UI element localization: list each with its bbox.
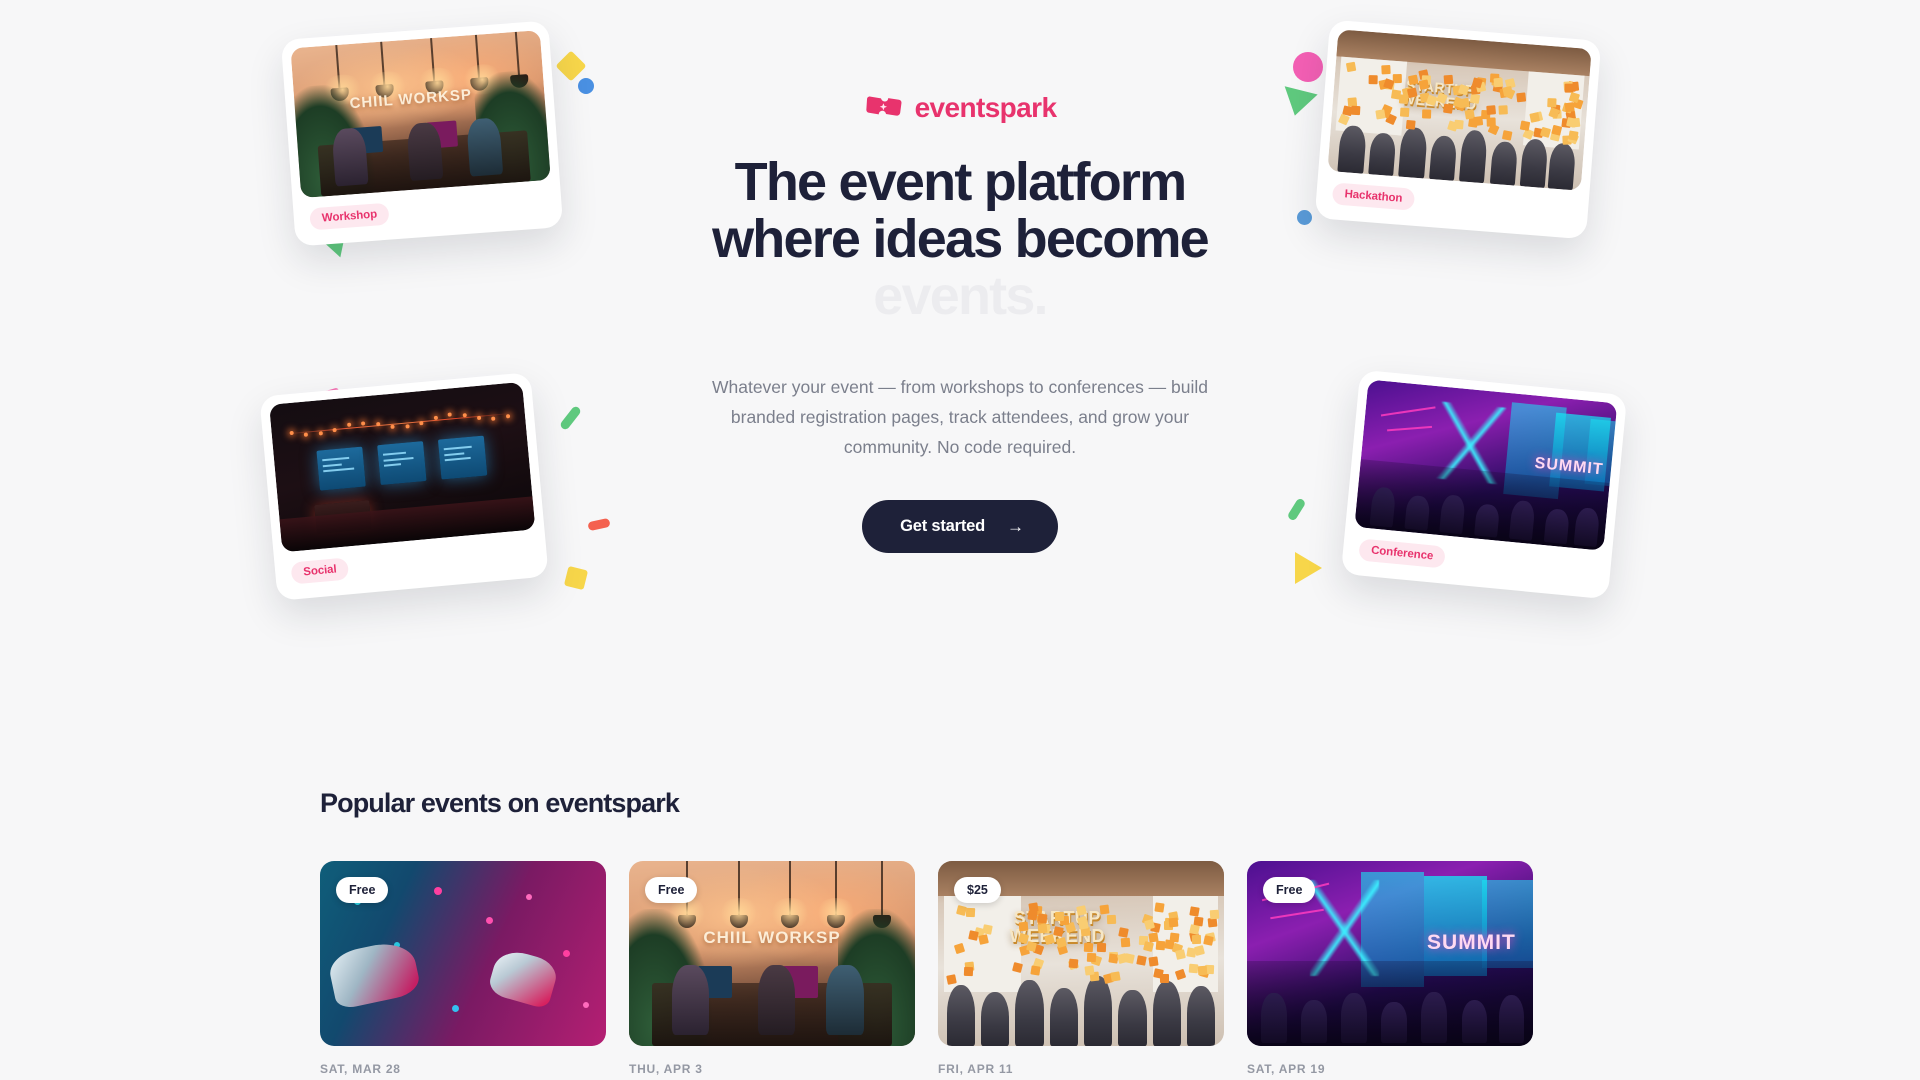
light-bulb [376,422,380,426]
light-bulb [333,428,337,432]
headline-line-1: The event platform [735,152,1186,212]
light-bulb [405,424,409,428]
hero-card-badge: Conference [1358,538,1446,568]
price-badge: Free [1263,877,1315,903]
section-title: Popular events on eventspark [320,660,1600,819]
yellow-square-shape [564,566,588,590]
light-bulb [491,416,495,420]
popular-events-section: Popular events on eventspark Free [0,660,1920,1080]
hero-section: CHIIL WORKSP Workshop [0,0,1920,660]
green-rod-shape [559,405,582,431]
get-started-label: Get started [900,517,985,536]
pink-circle-shape [1293,52,1323,82]
arrow-right-icon: → [1007,518,1024,535]
hero-card-badge: Hackathon [1332,182,1415,210]
headline-line-3: events. [873,266,1047,326]
event-thumbnail: Free SUMMIT [1247,861,1533,1046]
event-date: SAT, APR 19 [1247,1062,1533,1076]
event-card[interactable]: $25 STARTUPWEEKEND [938,861,1224,1080]
event-card[interactable]: Free SUMMIT [1247,861,1533,1080]
light-bulb [419,421,423,425]
brand-logo[interactable]: eventspark [580,92,1340,124]
hero-card-workshop[interactable]: CHIIL WORKSP Workshop [281,20,563,246]
hero-card-conference[interactable]: SUMMIT Conference [1341,370,1627,600]
light-bulb [289,431,293,435]
light-bulb [304,433,308,437]
light-bulb [477,415,481,419]
light-bulb [462,413,466,417]
get-started-button[interactable]: Get started → [862,500,1058,553]
event-grid: Free [320,861,1600,1080]
hero-card-hackathon[interactable]: STARTUPWEEKEND Hackathon [1315,20,1602,240]
hero-content: eventspark The event platform where idea… [580,92,1340,553]
event-date: FRI, APR 11 [938,1062,1224,1076]
hero-card-social[interactable]: Social [259,372,548,601]
price-badge: Free [645,877,697,903]
light-bulb [361,421,365,425]
light-bulb [433,416,437,420]
yellow-play-shape [1295,552,1322,584]
price-badge: Free [336,877,388,903]
landing-page: CHIIL WORKSP Workshop [0,0,1920,1080]
page-title: The event platform where ideas become ev… [580,154,1340,326]
light-bulb [448,413,452,417]
event-thumbnail: $25 STARTUPWEEKEND [938,861,1224,1046]
hero-card-photo: CHIIL WORKSP [290,30,550,198]
brand-name: eventspark [915,92,1057,124]
light-bulb [390,424,394,428]
sticky-notes [947,902,1216,980]
hero-card-badge: Social [290,557,349,584]
event-date: THU, APR 3 [629,1062,915,1076]
ticket-sparkle-icon [864,95,904,121]
light-bulb [506,414,510,418]
event-card[interactable]: Free CHIIL WORKSP [629,861,915,1080]
event-card[interactable]: Free [320,861,606,1080]
event-thumbnail: Free [320,861,606,1046]
hero-card-photo: STARTUPWEEKEND [1327,29,1591,190]
hero-card-badge: Workshop [309,203,390,231]
hero-card-photo [269,382,535,552]
cta-container: Get started → [580,500,1340,553]
hero-subheading: Whatever your event — from workshops to … [700,372,1220,462]
yellow-diamond-shape [555,50,586,81]
event-thumbnail: Free CHIIL WORKSP [629,861,915,1046]
event-date: SAT, MAR 28 [320,1062,606,1076]
light-bulb [318,432,322,436]
headline-line-2: where ideas become [712,209,1208,269]
price-badge: $25 [954,877,1001,903]
hero-card-photo: SUMMIT [1354,379,1617,550]
